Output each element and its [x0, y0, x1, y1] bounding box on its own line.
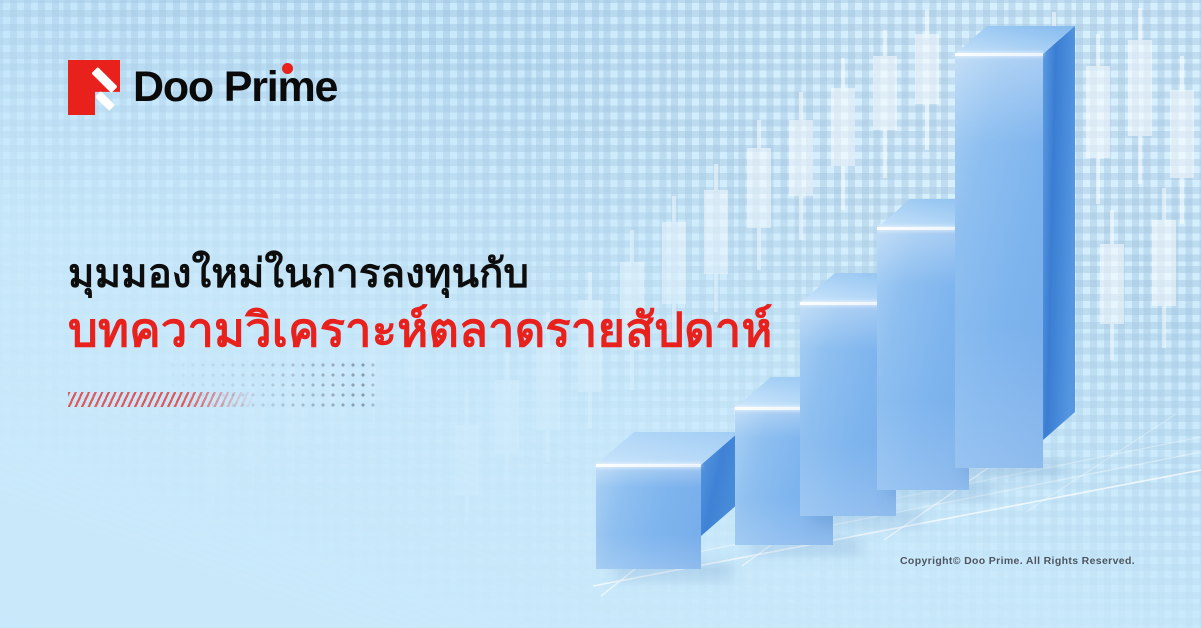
brand-wordmark: Doo Prime	[133, 66, 337, 109]
doo-prime-logo-mark-icon	[68, 60, 120, 115]
headline-line-1: มุมมองใหม่ในการลงทุนกับ	[68, 250, 773, 299]
wordmark-dot-icon	[282, 63, 293, 74]
bar-5-highlight-edge	[955, 53, 1043, 56]
bar-1	[596, 465, 701, 569]
brand-wordmark-text: Doo Prime	[133, 63, 337, 111]
brand-logo[interactable]: Doo Prime	[68, 60, 337, 115]
bar-5-front-face	[955, 54, 1043, 468]
bar-5	[955, 54, 1043, 468]
bar-5-right-face	[1043, 26, 1079, 486]
headline-line-2: บทความวิเคราะห์ตลาดรายสัปดาห์	[68, 301, 773, 359]
decorative-accent-group	[68, 386, 388, 412]
copyright-text: Copyright© Doo Prime. All Rights Reserve…	[900, 555, 1135, 567]
headline-block: มุมมองใหม่ในการลงทุนกับ บทความวิเคราะห์ต…	[68, 250, 773, 359]
bar-1-highlight-edge	[596, 464, 701, 467]
bar-1-front-face	[596, 465, 701, 569]
diagonal-stripe-bar-icon	[68, 392, 256, 407]
banner-canvas: Doo Prime มุมมองใหม่ในการลงทุนกับ บทความ…	[0, 0, 1201, 628]
